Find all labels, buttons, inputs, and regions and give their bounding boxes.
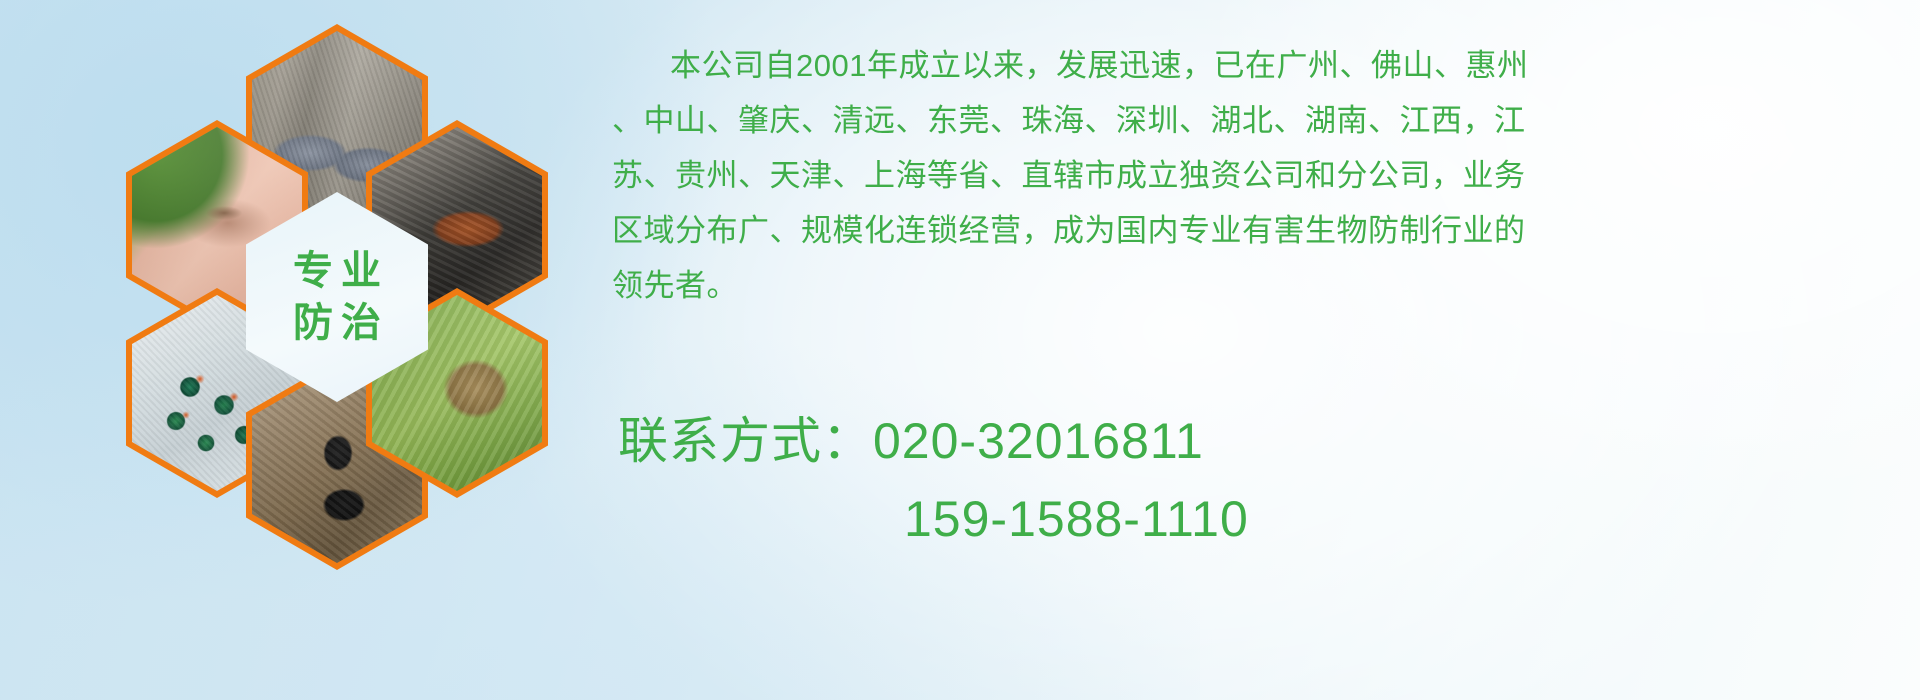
slogan-line-2: 防治 xyxy=(285,303,389,343)
description-line-3: 苏、贵州、天津、上海等省、直辖市成立独资公司和分公司，业务 xyxy=(612,148,1902,203)
company-description: 本公司自2001年成立以来，发展迅速，已在广州、佛山、惠州 、中山、肇庆、清远、… xyxy=(612,38,1902,313)
pest-control-banner: 专业 防治 本公司自2001年成立以来，发展迅速，已在广州、佛山、惠州 、中山、… xyxy=(0,0,1920,700)
slogan-line-1: 专业 xyxy=(285,251,389,291)
description-line-4: 区域分布广、规模化连锁经营，成为国内专业有害生物防制行业的 xyxy=(612,203,1902,258)
description-line-5: 领先者。 xyxy=(612,258,1902,313)
honeycomb-image-cluster: 专业 防治 xyxy=(88,8,588,553)
description-line-1: 本公司自2001年成立以来，发展迅速，已在广州、佛山、惠州 xyxy=(612,38,1902,93)
contact-block: 联系方式：020-32016811 159-1588-1110 xyxy=(618,402,1878,558)
description-line-2: 、中山、肇庆、清远、东莞、珠海、深圳、湖北、湖南、江西，江 xyxy=(612,93,1902,148)
contact-phone-primary[interactable]: 联系方式：020-32016811 xyxy=(618,402,1878,480)
contact-phone-secondary[interactable]: 159-1588-1110 xyxy=(618,480,1878,558)
